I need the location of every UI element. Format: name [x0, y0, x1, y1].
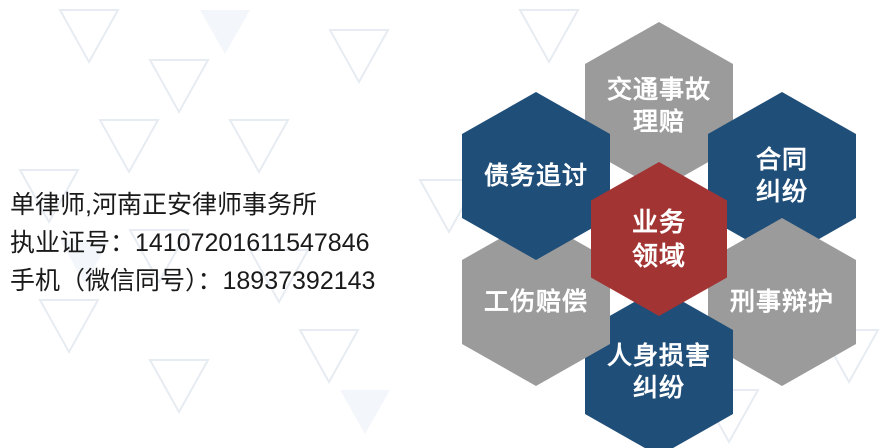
- hex-criminal-defense-line1: 刑事辩护: [730, 286, 834, 318]
- hex-traffic-accident-line2: 理赔: [607, 106, 711, 138]
- poster-canvas: 单律师,河南正安律师事务所 执业证号：14107201611547846 手机（…: [0, 0, 896, 448]
- hex-contract-dispute-line1: 合同: [756, 144, 808, 176]
- info-line-phone: 手机（微信同号）：18937392143: [10, 262, 450, 300]
- lawyer-info-block: 单律师,河南正安律师事务所 执业证号：14107201611547846 手机（…: [10, 186, 450, 300]
- info-line-name-firm: 单律师,河南正安律师事务所: [10, 186, 450, 224]
- practice-areas-diagram: 交通事故 理赔 合同 纠纷 刑事辩护 人身损害 纠纷: [440, 0, 896, 448]
- hex-personal-injury-line2: 纠纷: [607, 372, 711, 404]
- hex-debt-collection-line1: 债务追讨: [484, 160, 588, 192]
- hex-center-line2: 领域: [632, 239, 686, 273]
- hex-traffic-accident-line1: 交通事故: [607, 74, 711, 106]
- hex-center-practice-areas[interactable]: 业务 领域: [591, 162, 727, 316]
- hex-work-injury-line1: 工伤赔偿: [484, 286, 588, 318]
- hex-center-line1: 业务: [632, 205, 686, 239]
- info-line-license-number: 执业证号：14107201611547846: [10, 224, 450, 262]
- hex-contract-dispute-line2: 纠纷: [756, 176, 808, 208]
- hex-personal-injury-line1: 人身损害: [607, 340, 711, 372]
